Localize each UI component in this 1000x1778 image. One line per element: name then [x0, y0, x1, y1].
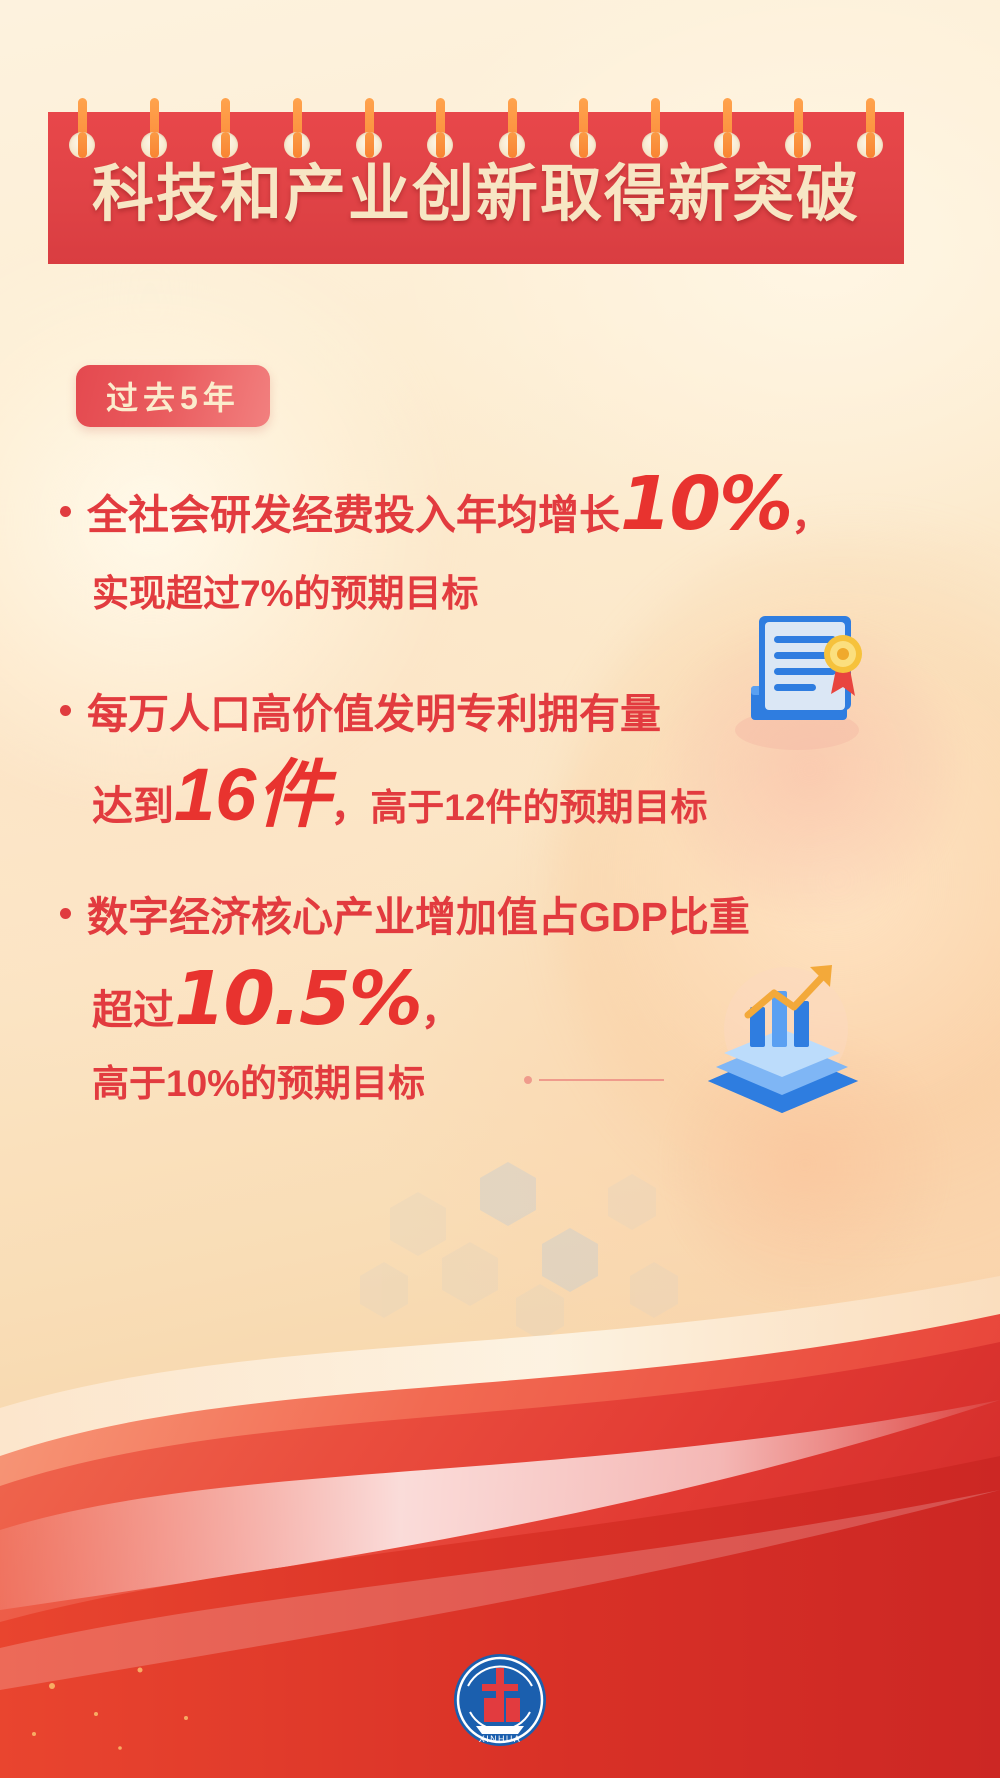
bullet-1-value: 10%	[620, 475, 791, 534]
bullet-2-value-prefix: 达到	[92, 772, 174, 832]
growth-chart-icon	[690, 955, 870, 1115]
bullet-3-text: 数字经济核心产业增加值占GDP比重	[87, 883, 750, 943]
spiral-binding-rings	[48, 96, 904, 170]
bullet-2-value: 16件	[174, 765, 330, 824]
decorative-connector-line	[524, 1075, 664, 1085]
bullet-2-comma: ，	[330, 774, 370, 832]
bullet-dot-icon	[60, 506, 71, 517]
bullet-3-value-prefix: 超过	[92, 976, 174, 1036]
bullet-3-comma: ，	[421, 978, 461, 1036]
poster-background: 科技和产业创新取得新突破 过去5年 全社会研发经费投入年均增长 10% ， 实现…	[0, 0, 1000, 1778]
connector-line	[539, 1079, 664, 1081]
title-banner: 科技和产业创新取得新突破	[0, 96, 1000, 266]
certificate-document-icon	[725, 608, 885, 758]
list-item: 全社会研发经费投入年均增长 10% ，	[60, 475, 831, 541]
list-item: 每万人口高价值发明专利拥有量	[60, 680, 661, 740]
bullet-1-comma: ，	[791, 483, 831, 541]
bullet-dot-icon	[60, 705, 71, 716]
bullet-dot-icon	[60, 908, 71, 919]
logo-text: XINHUA	[479, 1734, 521, 1744]
bullet-2-subline: 达到 16件 ， 高于12件的预期目标	[92, 765, 707, 832]
xinhua-news-agency-logo: XINHUA	[440, 1640, 560, 1760]
period-tag: 过去5年	[76, 365, 270, 427]
bullet-1-target-text: 实现超过7%的预期目标	[92, 563, 478, 617]
bullet-3-target-text: 高于10%的预期目标	[92, 1053, 425, 1107]
bullet-1-text: 全社会研发经费投入年均增长	[87, 481, 620, 541]
bullet-3-subline: 超过 10.5% ，	[92, 970, 461, 1036]
bullet-1-subline: 实现超过7%的预期目标	[92, 563, 478, 617]
connector-dot-icon	[524, 1076, 532, 1084]
bullet-2-target-text: 高于12件的预期目标	[370, 777, 707, 831]
list-item: 数字经济核心产业增加值占GDP比重	[60, 883, 750, 943]
bullet-3-value: 10.5%	[174, 970, 421, 1029]
bullet-2-text: 每万人口高价值发明专利拥有量	[87, 680, 661, 740]
bullet-3-target-line: 高于10%的预期目标	[92, 1053, 425, 1107]
